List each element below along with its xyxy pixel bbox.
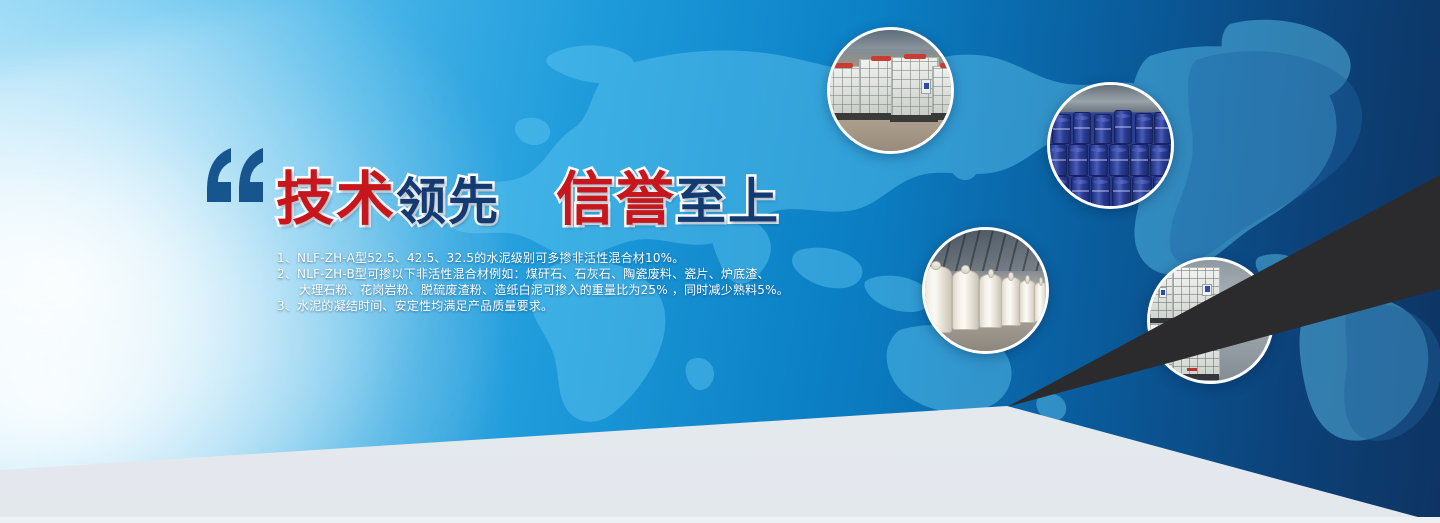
photo-scene (1050, 85, 1171, 206)
promo-banner: 技术 领先 信誉 至上 1、NLF-ZH-A型52.5、42.5、32.5的水泥… (0, 0, 1440, 523)
tank-unit (1001, 277, 1020, 325)
drum-unit (1130, 144, 1149, 175)
drum-unit (1050, 176, 1069, 207)
double-quote-icon (205, 146, 267, 204)
tank-unit (952, 270, 980, 331)
tote-unit (1147, 272, 1174, 320)
drum-unit (1073, 112, 1091, 145)
headline-segment-3: 信誉 (556, 170, 676, 228)
bottom-edge-strip (0, 517, 1440, 523)
drum-unit (1135, 113, 1153, 144)
drum-unit (1114, 110, 1132, 144)
photo-scene (925, 230, 1046, 351)
drum-unit (1094, 114, 1112, 144)
description-line-3: 大理石粉、花岗岩粉、脱硫废渣粉、造纸白泥可掺入的重量比为25% ，同时减少熟料5… (277, 282, 877, 298)
product-photo-white-tanks-warehouse (922, 227, 1049, 354)
tank-unit (922, 266, 952, 333)
photo-scene (830, 30, 951, 151)
photo-shed-roof (1050, 85, 1171, 112)
drum-unit (1132, 176, 1151, 207)
drum-unit (1112, 176, 1131, 207)
headline-segment-4: 至上 (676, 177, 780, 227)
page-title: 技术 领先 信誉 至上 (276, 170, 780, 228)
drum-unit (1052, 114, 1070, 144)
product-photo-ibc-totes-outdoor (827, 27, 954, 154)
drum-unit (1071, 176, 1090, 207)
description-line-2: 2、NLF-ZH-B型可掺以下非活性混合材例如：煤矸石、石灰石、陶瓷废料、瓷片、… (277, 266, 877, 282)
description-line-4: 3、水泥的凝结时间、安定性均满足产品质量要求。 (277, 298, 877, 314)
drum-unit (1153, 176, 1172, 207)
drum-unit (1109, 144, 1128, 175)
banner-description: 1、NLF-ZH-A型52.5、42.5、32.5的水泥级别可多掺非活性混合材1… (277, 250, 877, 314)
tote-unit (932, 66, 954, 114)
photo-roof-beams (925, 230, 1046, 271)
drum-unit (1048, 144, 1067, 175)
headline-segment-2: 领先 (396, 177, 500, 227)
description-line-1: 1、NLF-ZH-A型52.5、42.5、32.5的水泥级别可多掺非活性混合材1… (277, 250, 877, 266)
drum-unit (1091, 176, 1110, 207)
tank-unit (979, 274, 1002, 328)
drum-unit (1089, 144, 1108, 175)
photo-roofline (830, 30, 951, 49)
drum-unit (1068, 144, 1087, 175)
headline-segment-1: 技术 (276, 170, 396, 228)
drum-unit (1154, 112, 1172, 145)
drum-unit (1150, 144, 1169, 175)
product-photo-blue-drums (1047, 82, 1174, 209)
